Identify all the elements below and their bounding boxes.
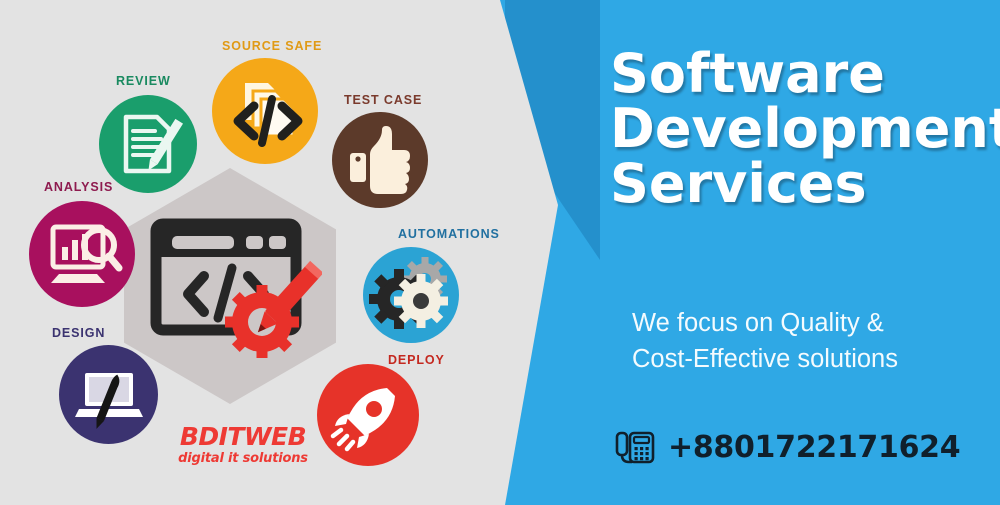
node-label-test-case: TEST CASE xyxy=(344,93,422,107)
node-automations[interactable] xyxy=(363,247,459,343)
node-label-automations: AUTOMATIONS xyxy=(398,227,500,241)
code-window-gear-pencil-icon xyxy=(150,218,322,358)
brand-tagline: digital it solutions xyxy=(178,451,308,466)
brand-name: BDITWEB xyxy=(178,424,308,449)
subheading: We focus on Quality & Cost-Effective sol… xyxy=(632,305,1000,377)
subheading-line-2: Cost-Effective solutions xyxy=(632,341,1000,377)
node-test-case[interactable] xyxy=(332,112,428,208)
gears-icon xyxy=(363,247,459,343)
subheading-line-1: We focus on Quality & xyxy=(632,305,1000,341)
headline-line-2: Development xyxy=(610,101,970,156)
headline: Software Development Services xyxy=(610,46,970,211)
node-design[interactable] xyxy=(59,345,158,444)
node-source-safe[interactable] xyxy=(212,58,318,164)
node-label-design: DESIGN xyxy=(52,326,105,340)
phone-number[interactable]: +8801722171624 xyxy=(668,430,960,465)
contact-block[interactable]: +8801722171624 xyxy=(612,424,960,470)
headline-line-1: Software xyxy=(610,46,970,101)
node-review[interactable] xyxy=(99,95,197,193)
rocket-icon xyxy=(317,364,419,466)
node-analysis[interactable] xyxy=(29,201,135,307)
node-label-source-safe: SOURCE SAFE xyxy=(222,39,322,53)
document-pen-icon xyxy=(99,95,197,193)
desk-phone-icon xyxy=(612,424,658,470)
chart-magnifier-icon xyxy=(29,201,135,307)
headline-line-3: Services xyxy=(610,156,970,211)
software-lifecycle-infographic: ANALYSIS REVIEW xyxy=(0,0,560,505)
brand-logo: BDITWEB digital it solutions xyxy=(178,424,308,466)
node-label-review: REVIEW xyxy=(116,74,171,88)
code-documents-icon xyxy=(212,58,318,164)
laptop-brush-icon xyxy=(59,345,158,444)
node-deploy[interactable] xyxy=(317,364,419,466)
thumbs-up-icon xyxy=(332,112,428,208)
message-panel: Software Development Services We focus o… xyxy=(610,0,1000,505)
promotional-banner: ANALYSIS REVIEW xyxy=(0,0,1000,505)
